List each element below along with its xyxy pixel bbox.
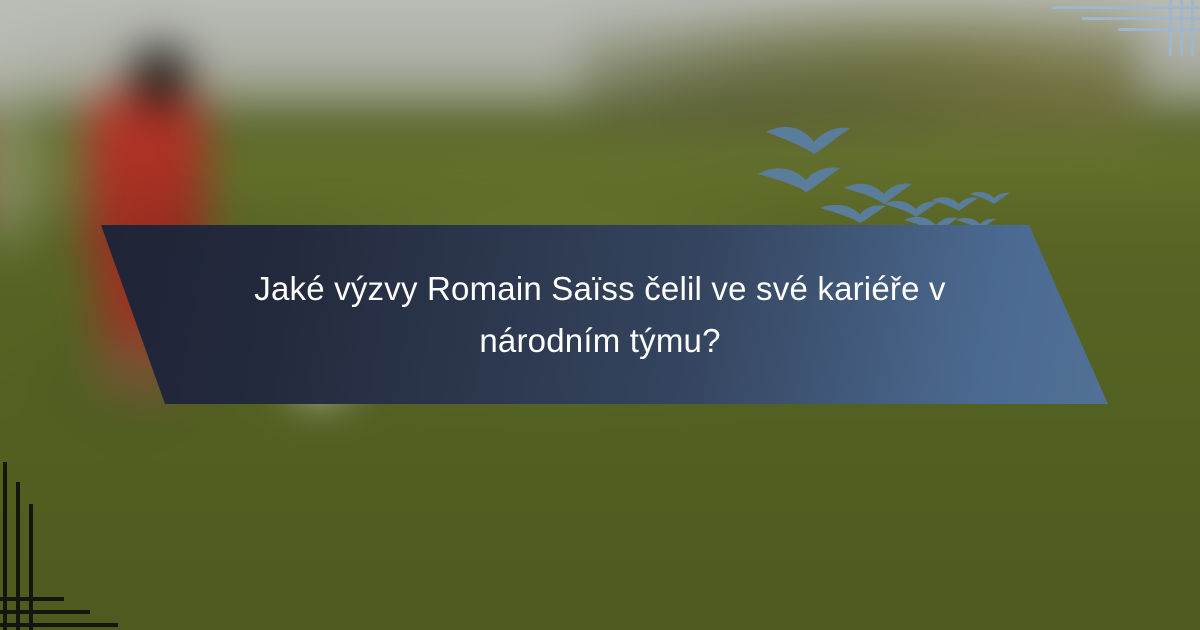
share-card: Jaké výzvy Romain Saïss čelil ve své kar… xyxy=(0,0,1200,630)
headline-banner xyxy=(0,225,1200,404)
